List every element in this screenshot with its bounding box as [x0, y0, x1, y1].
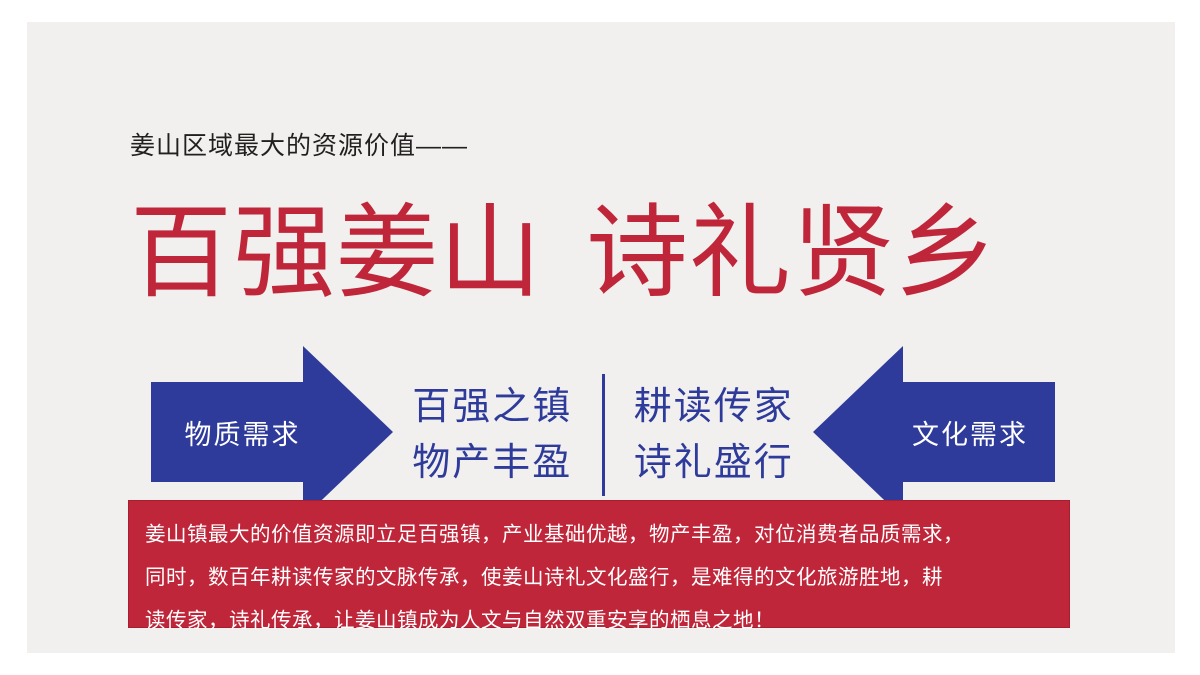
center-left-line1: 百强之镇 — [393, 379, 592, 435]
summary-line-3: 读传家，诗礼传承，让姜山镇成为人文与自然双重安享的栖息之地！ — [145, 599, 1053, 642]
center-column-left: 百强之镇 物产丰盈 — [393, 379, 592, 491]
center-left-line2: 物产丰盈 — [393, 435, 592, 491]
summary-line-2: 同时，数百年耕读传家的文脉传承，使姜山诗礼文化盛行，是难得的文化旅游胜地，耕 — [145, 556, 1053, 599]
arrow-diagram: 物质需求 百强之镇 物产丰盈 耕读传家 诗礼盛行 文化需求 — [27, 342, 1175, 522]
center-right-line1: 耕读传家 — [615, 379, 814, 435]
center-right-line2: 诗礼盛行 — [615, 435, 814, 491]
arrow-left-label: 物质需求 — [155, 342, 330, 522]
arrow-right-cultural-demand: 文化需求 — [813, 342, 1081, 522]
arrow-right-label: 文化需求 — [875, 342, 1065, 522]
summary-callout: 姜山镇最大的价值资源即立足百强镇，产业基础优越，物产丰盈，对位消费者品质需求， … — [128, 500, 1070, 628]
eyebrow-text: 姜山区域最大的资源价值—— — [130, 130, 468, 162]
center-column-right: 耕读传家 诗礼盛行 — [615, 379, 814, 491]
center-divider — [602, 374, 605, 496]
center-text-block: 百强之镇 物产丰盈 耕读传家 诗礼盛行 — [393, 370, 813, 500]
headline-left: 百强姜山 — [130, 196, 542, 310]
page-title: 百强姜山诗礼贤乡 — [130, 194, 998, 312]
headline-right: 诗礼贤乡 — [586, 196, 998, 310]
summary-line-1: 姜山镇最大的价值资源即立足百强镇，产业基础优越，物产丰盈，对位消费者品质需求， — [145, 513, 1053, 556]
arrow-left-material-demand: 物质需求 — [125, 342, 393, 522]
slide-canvas: 姜山区域最大的资源价值—— 百强姜山诗礼贤乡 物质需求 百强之镇 物产丰盈 耕读… — [27, 22, 1175, 653]
